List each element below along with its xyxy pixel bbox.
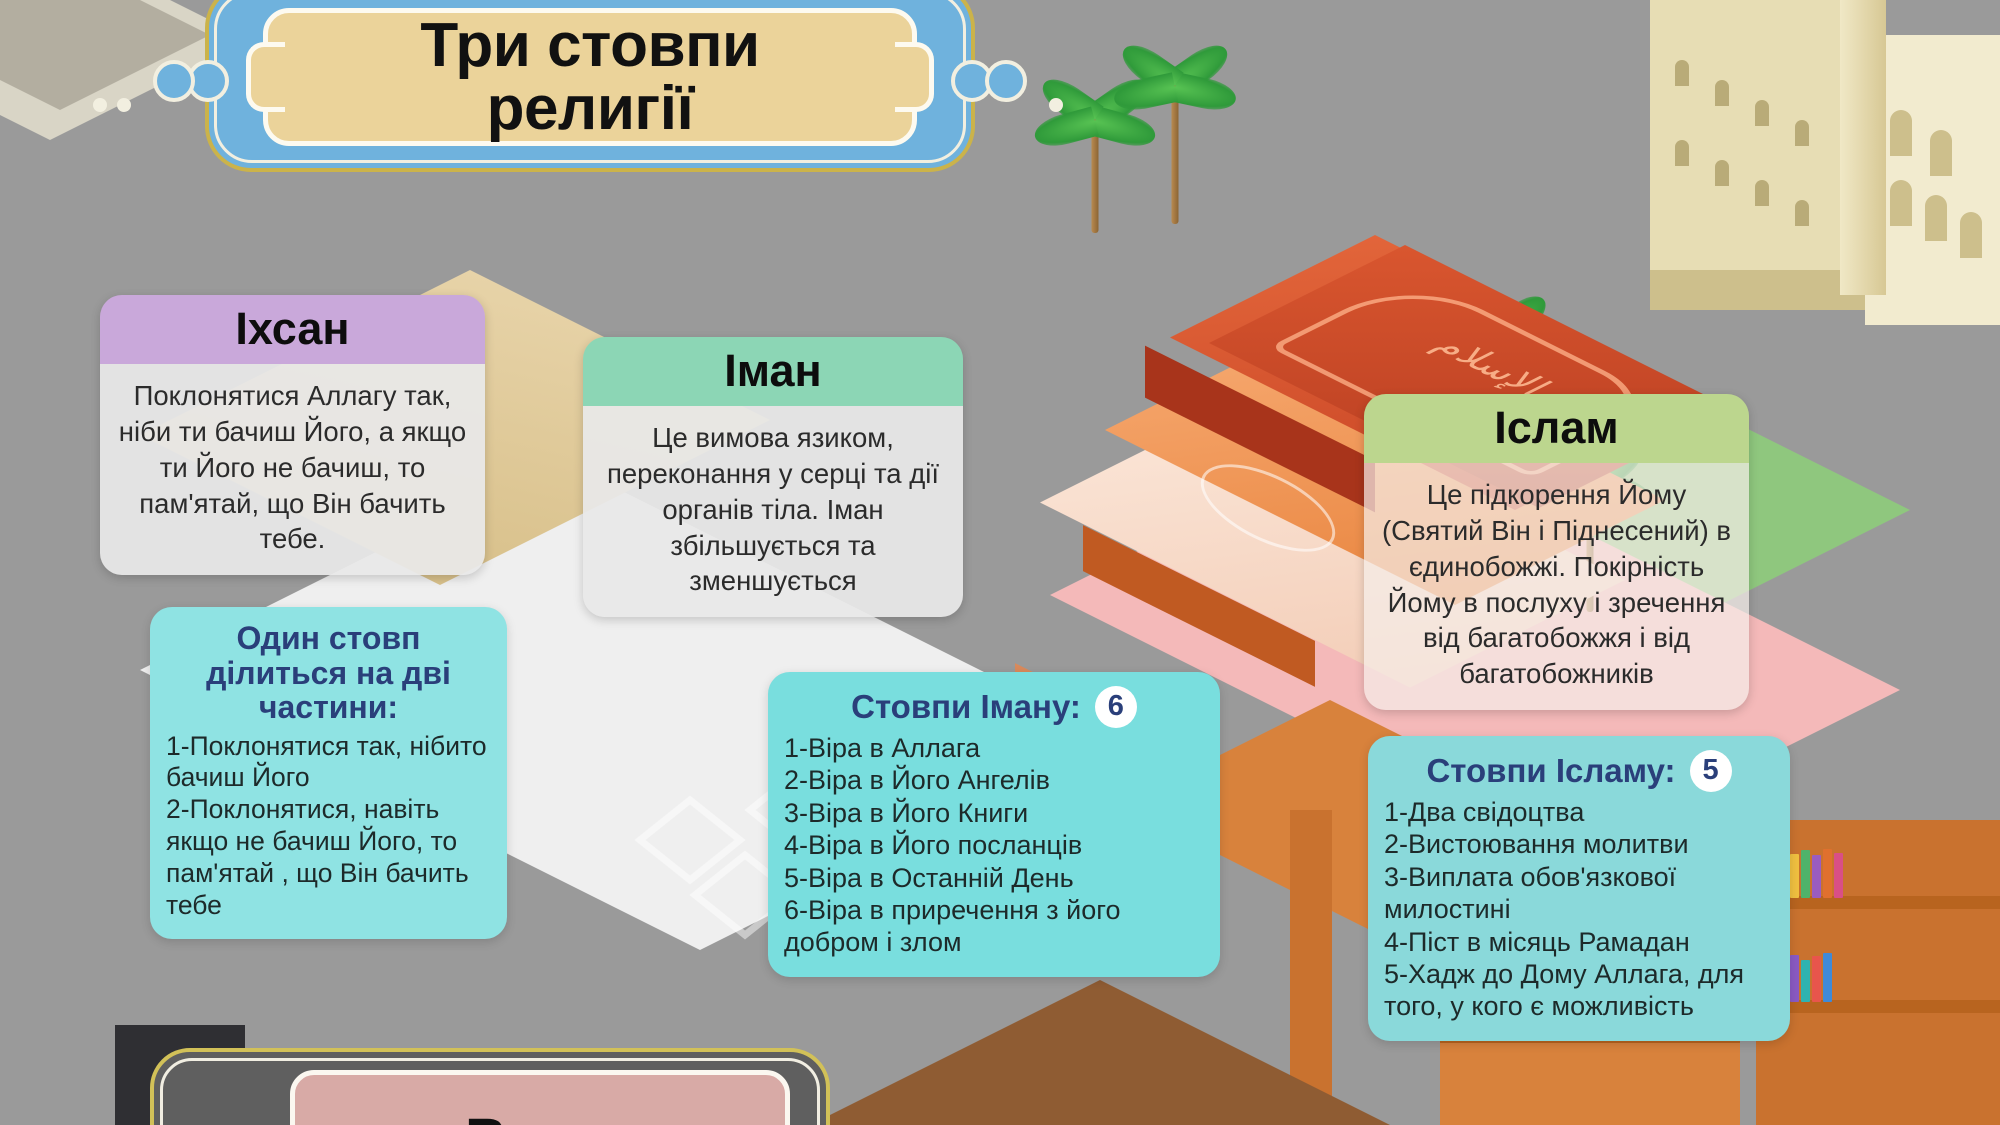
list-item: 3-Віра в Його Книги [784,797,1204,829]
card-islam: Іслам Це підкорення Йому (Святий Він і П… [1364,394,1749,710]
list-item: 1-Поклонятися так, нібито бачиш Його [166,731,491,795]
card-islam-heading: Іслам [1364,394,1749,463]
pillars-islam-count-badge: 5 [1690,750,1732,792]
pillars-islam-list: 1-Два свідоцтва 2-Вистоювання молитви 3-… [1384,796,1774,1023]
banner-knob-right-outer [985,60,1027,102]
pillars-iman-heading: Стовпи Іману: [851,689,1081,725]
card-ihsan: Іхсан Поклонятися Аллагу так, ніби ти ба… [100,295,485,575]
bottom-banner-title: Види [465,1106,615,1125]
title-banner: Три стовпи религії [205,0,975,172]
list-item: 2-Поклонятися, навіть якщо не бачиш Його… [166,794,491,921]
list-item: 5-Хадж до Дому Аллага, для того, у кого … [1384,958,1774,1023]
title-plate: Три стовпи религії [263,8,917,146]
list-item: 3-Виплата обов'язкової милостині [1384,861,1774,926]
list-item: 1-Віра в Аллага [784,732,1204,764]
pillars-ihsan-heading: Один стовп ділиться на дві частини: [166,621,491,725]
list-item: 6-Віра в приречення з його добром і злом [784,894,1204,959]
pillars-iman-count-badge: 6 [1095,686,1137,728]
pillars-iman-list: 1-Віра в Аллага 2-Віра в Його Ангелів 3-… [784,732,1204,959]
pillars-ihsan-list: 1-Поклонятися так, нібито бачиш Його 2-П… [166,731,491,922]
pillars-islam-box: Стовпи Ісламу: 5 1-Два свідоцтва 2-Висто… [1368,736,1790,1041]
banner-knob-left-outer [153,60,195,102]
card-iman: Іман Це вимова язиком, переконання у сер… [583,337,963,617]
list-item: 5-Віра в Останній День [784,862,1204,894]
card-iman-body: Це вимова язиком, переконання у серці та… [583,406,963,617]
pillars-ihsan-box: Один стовп ділиться на дві частини: 1-По… [150,607,507,939]
list-item: 4-Піст в місяць Рамадан [1384,926,1774,958]
list-item: 4-Віра в Його посланців [784,829,1204,861]
page-title: Три стовпи религії [420,14,759,140]
infographic-canvas: الإسلام [0,0,2000,1125]
card-ihsan-heading: Іхсан [100,295,485,364]
list-item: 1-Два свідоцтва [1384,796,1774,828]
pillars-islam-heading-row: Стовпи Ісламу: 5 [1384,750,1774,792]
card-iman-heading: Іман [583,337,963,406]
card-ihsan-body: Поклонятися Аллагу так, ніби ти бачиш Йо… [100,364,485,575]
bottom-banner: Види [150,1048,830,1125]
bottom-banner-plate: Види [290,1070,790,1125]
list-item: 2-Віра в Його Ангелів [784,764,1204,796]
palm-tree [1110,30,1240,220]
pillars-islam-heading: Стовпи Ісламу: [1426,753,1675,789]
pillars-iman-box: Стовпи Іману: 6 1-Віра в Аллага 2-Віра в… [768,672,1220,977]
list-item: 2-Вистоювання молитви [1384,828,1774,860]
card-islam-body: Це підкорення Йому (Святий Він і Піднесе… [1364,463,1749,710]
pillars-iman-heading-row: Стовпи Іману: 6 [784,686,1204,728]
